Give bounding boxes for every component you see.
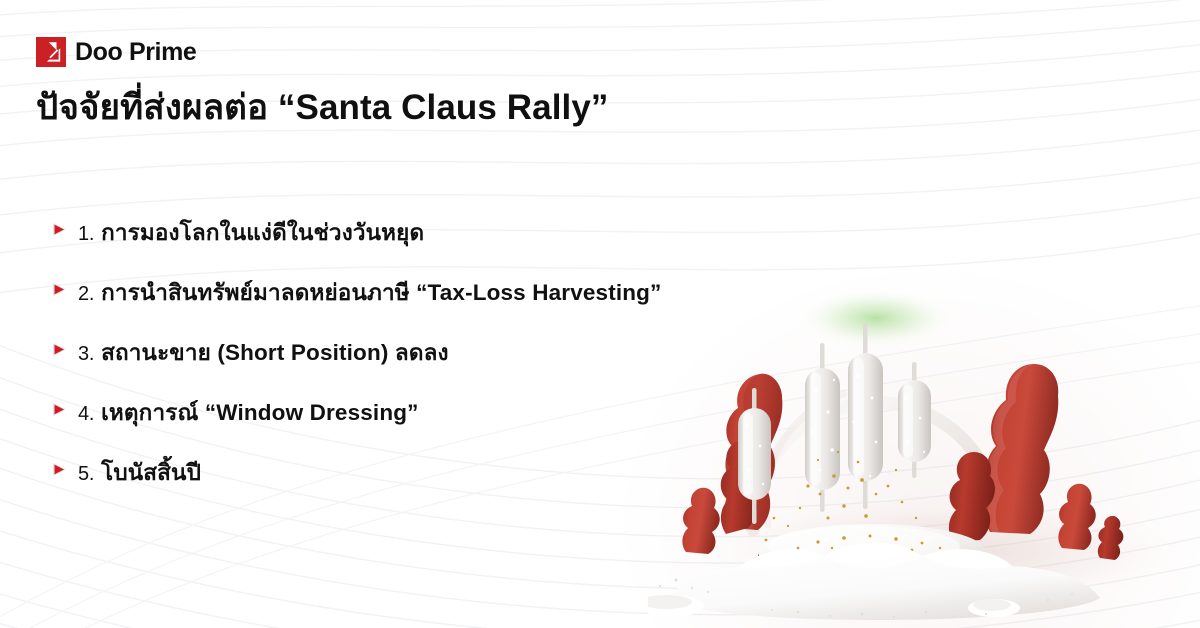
play-triangle-icon — [52, 342, 78, 357]
podium — [758, 524, 986, 592]
candlestick-4 — [898, 362, 931, 478]
christmas-tree-right-small — [1058, 484, 1095, 550]
snow-ground — [648, 543, 1100, 621]
christmas-tree-right-medium — [949, 452, 995, 542]
podium-base — [758, 548, 986, 592]
list-item[interactable]: 5. โบนัสสิ้นปี — [52, 454, 872, 514]
christmas-tree-right-tall — [986, 364, 1059, 534]
play-triangle-icon — [52, 402, 78, 417]
list-item-label: การมองโลกในแง่ดีในช่วงวันหยุด — [101, 214, 424, 250]
list-item-number: 4. — [78, 403, 94, 426]
podium-glitter-white — [793, 533, 929, 547]
list-item-label: โบนัสสิ้นปี — [101, 454, 201, 490]
list-item-label: สถานะขาย (Short Position) ลดลง — [101, 334, 449, 370]
play-triangle-icon — [52, 462, 78, 477]
poster-canvas: Doo Prime ปัจจัยที่ส่งผลต่อ “Santa Claus… — [0, 0, 1200, 628]
list-item[interactable]: 4. เหตุการณ์ “Window Dressing” — [52, 394, 872, 454]
snow-dust — [659, 579, 1073, 619]
play-triangle-icon — [52, 282, 78, 297]
play-triangle-icon — [52, 222, 78, 237]
page-title: ปัจจัยที่ส่งผลต่อ “Santa Claus Rally” — [36, 87, 609, 130]
christmas-tree-right-tiny — [1098, 516, 1124, 560]
brand-name: Doo Prime — [75, 40, 196, 65]
podium-glitter — [781, 535, 941, 558]
list-item-number: 1. — [78, 223, 94, 246]
list-item-number: 5. — [78, 463, 94, 486]
factor-list: 1. การมองโลกในแง่ดีในช่วงวันหยุด 2. การน… — [52, 214, 872, 514]
list-item-number: 3. — [78, 343, 94, 366]
podium-top — [758, 524, 986, 580]
list-item[interactable]: 3. สถานะขาย (Short Position) ลดลง — [52, 334, 872, 394]
list-item[interactable]: 1. การมองโลกในแง่ดีในช่วงวันหยุด — [52, 214, 872, 274]
list-item-number: 2. — [78, 283, 94, 306]
list-item[interactable]: 2. การนำสินทรัพย์มาลดหย่อนภาษี “Tax-Loss… — [52, 274, 872, 334]
doo-prime-flag-mark-icon — [36, 37, 66, 67]
brand-logo[interactable]: Doo Prime — [36, 37, 196, 67]
list-item-label: เหตุการณ์ “Window Dressing” — [101, 394, 418, 430]
list-item-label: การนำสินทรัพย์มาลดหย่อนภาษี “Tax-Loss Ha… — [101, 274, 661, 310]
